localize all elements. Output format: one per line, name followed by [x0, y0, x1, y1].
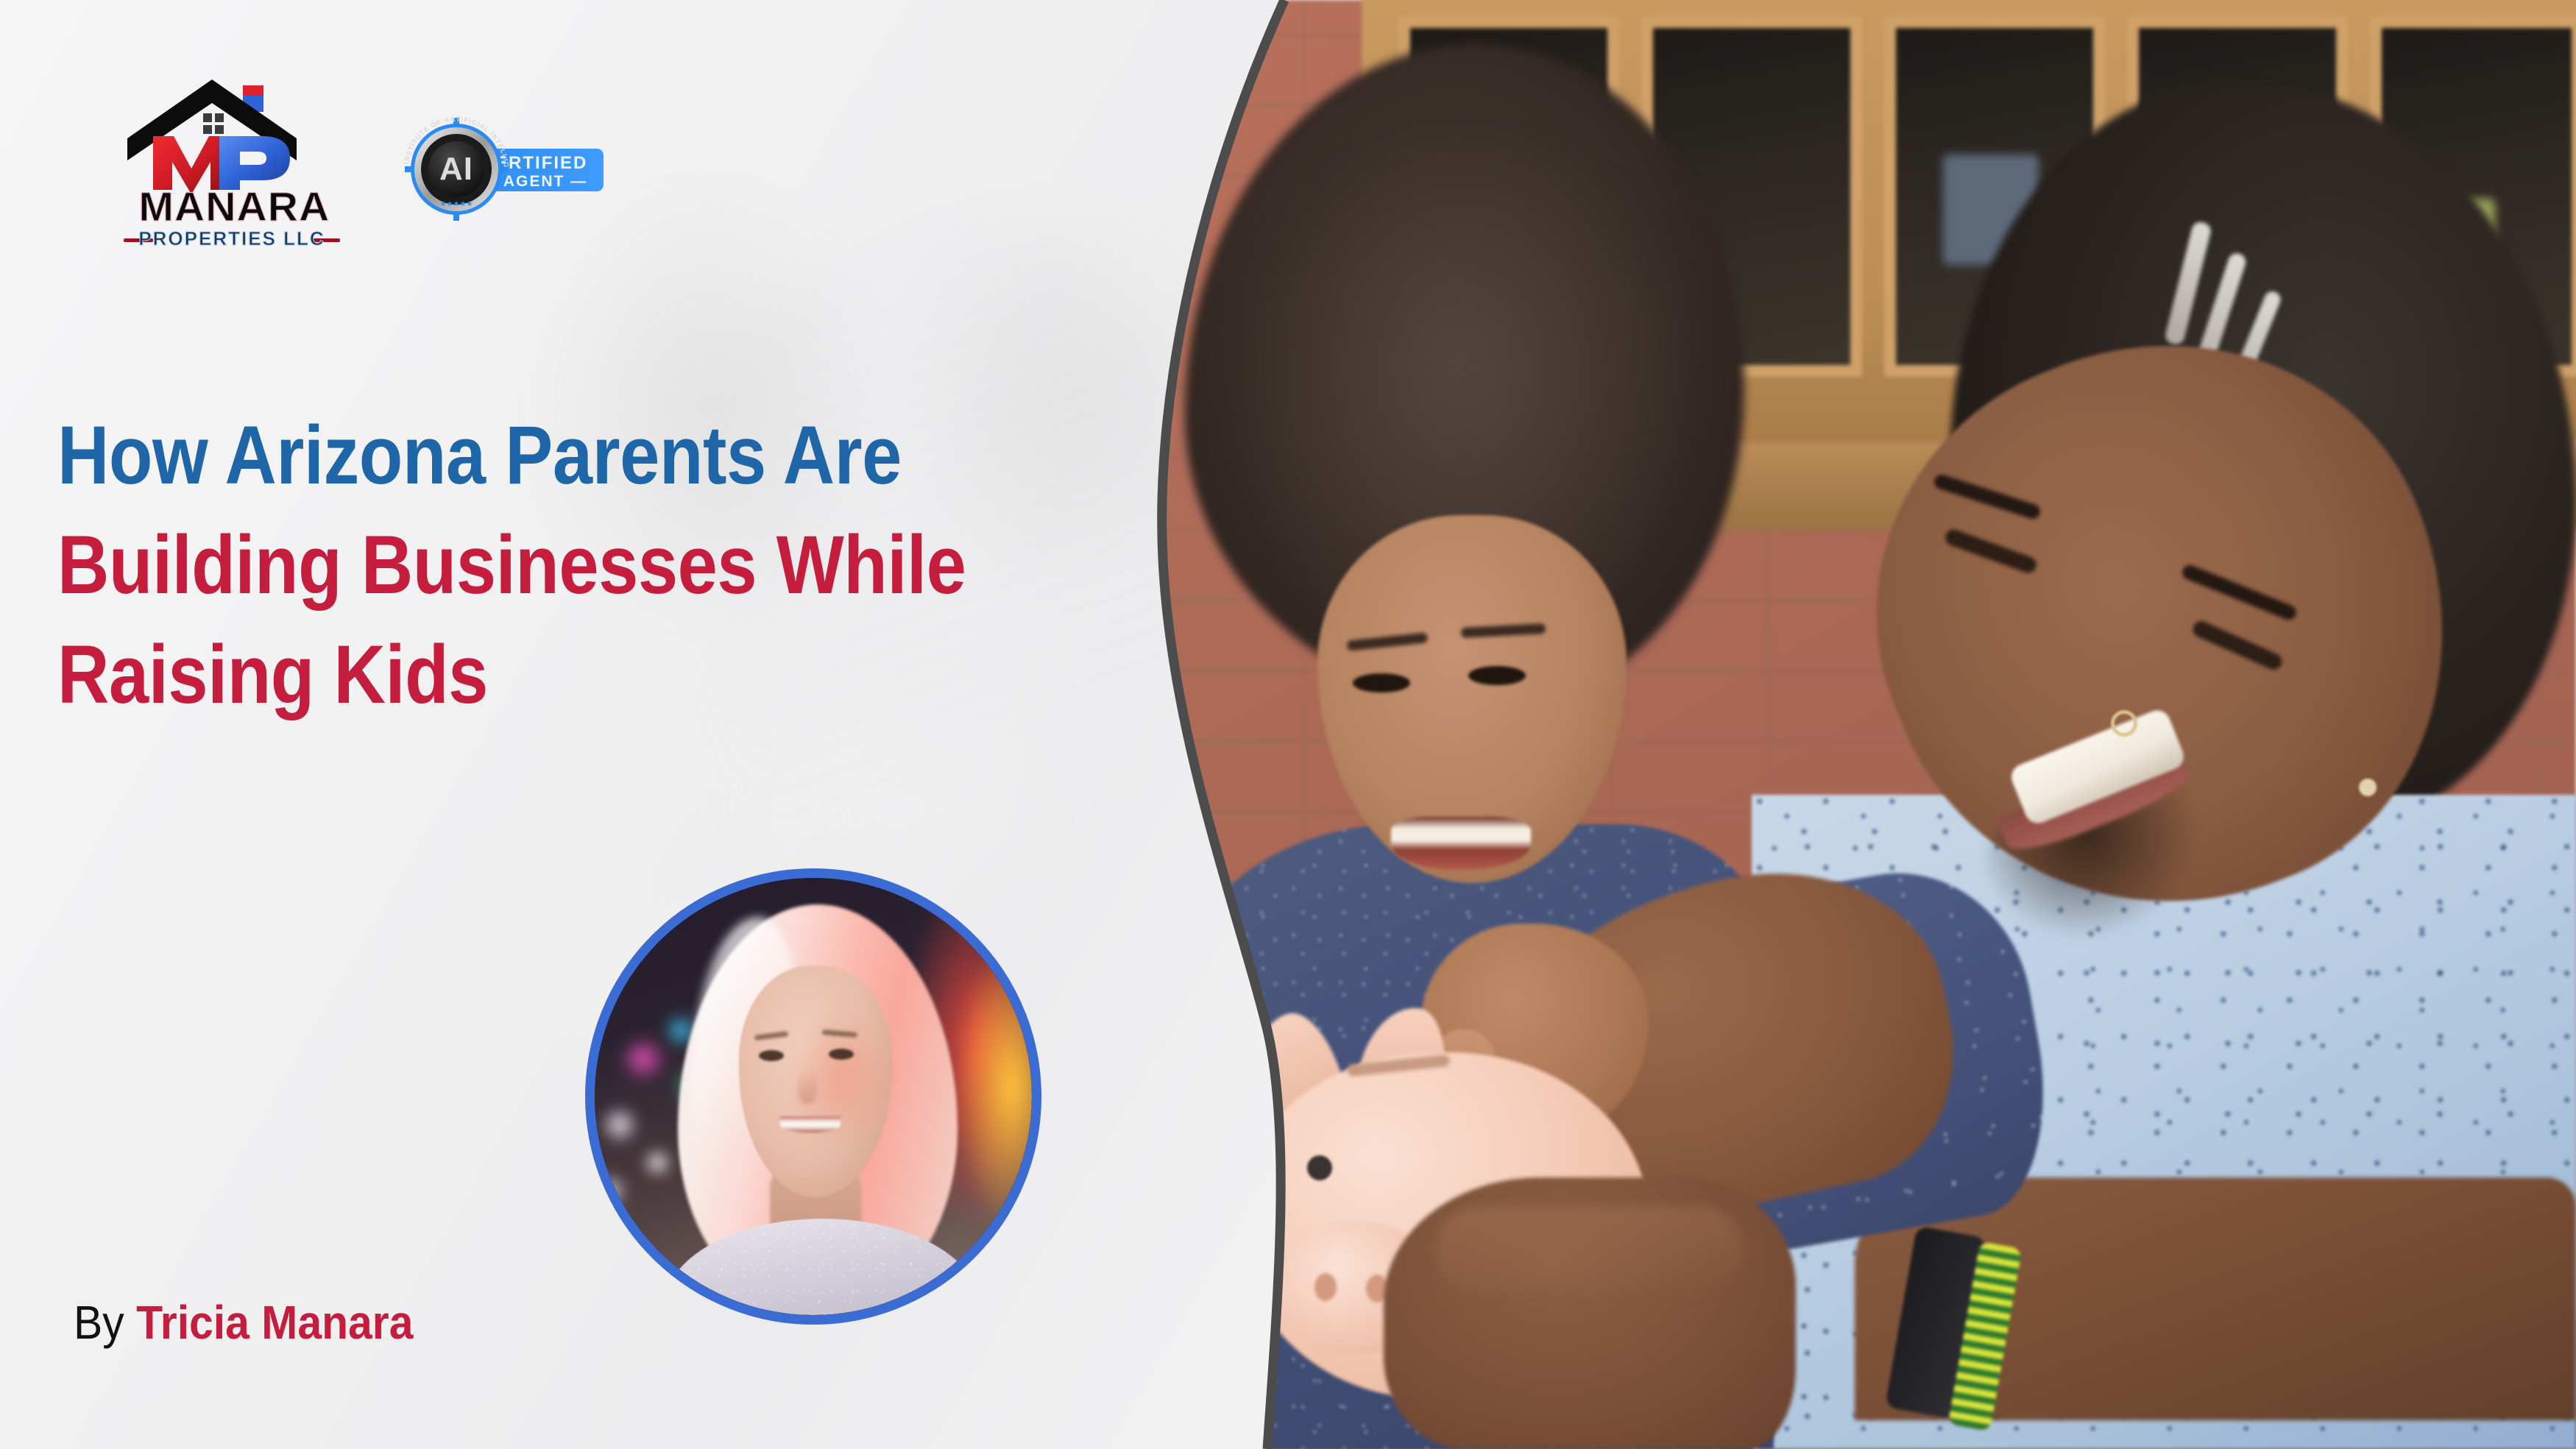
- article-headline: How Arizona Parents Are Building Busines…: [57, 401, 1056, 730]
- ai-certified-agent-badge[interactable]: CERTIFIED — AGENT — KREM INSTITUTE OF AR…: [390, 103, 611, 235]
- manara-properties-logo[interactable]: MANARA PROPERTIES LLC: [110, 57, 353, 256]
- logo-monogram-p: [219, 136, 290, 190]
- child-smile: [1391, 817, 1531, 870]
- portrait-eye-right: [829, 1049, 854, 1060]
- headline-line-3: Raising Kids: [57, 620, 1056, 730]
- man-knuckles: [1435, 1207, 1744, 1295]
- byline: By Tricia Manara: [74, 1295, 413, 1350]
- piggy-bank-eye: [1307, 1155, 1332, 1180]
- logo-attic-window-icon: [203, 113, 224, 134]
- portrait-smile: [780, 1116, 841, 1133]
- article-hero-banner: MANARA PROPERTIES LLC: [0, 0, 2576, 1449]
- child-eye-right: [1468, 666, 1526, 685]
- portrait-nose: [798, 1070, 817, 1104]
- byline-prefix: By: [74, 1296, 136, 1349]
- piggy-bank-nostril: [1314, 1273, 1337, 1301]
- badge-center-text: AI: [439, 151, 473, 187]
- man-earring: [2359, 779, 2377, 796]
- author-portrait-image: [595, 878, 1032, 1315]
- headline-line-1: How Arizona Parents Are: [57, 401, 1056, 511]
- logo-subtitle: PROPERTIES LLC: [138, 227, 325, 249]
- child-eye-left: [1353, 673, 1410, 692]
- logo-wordmark: MANARA: [138, 184, 330, 230]
- badge-stars: ★★★★★: [440, 200, 473, 208]
- portrait-eye-left: [759, 1050, 784, 1061]
- author-portrait-avatar[interactable]: [585, 868, 1041, 1325]
- headline-line-2: Building Businesses While: [57, 511, 1056, 620]
- byline-author-name: Tricia Manara: [136, 1296, 413, 1349]
